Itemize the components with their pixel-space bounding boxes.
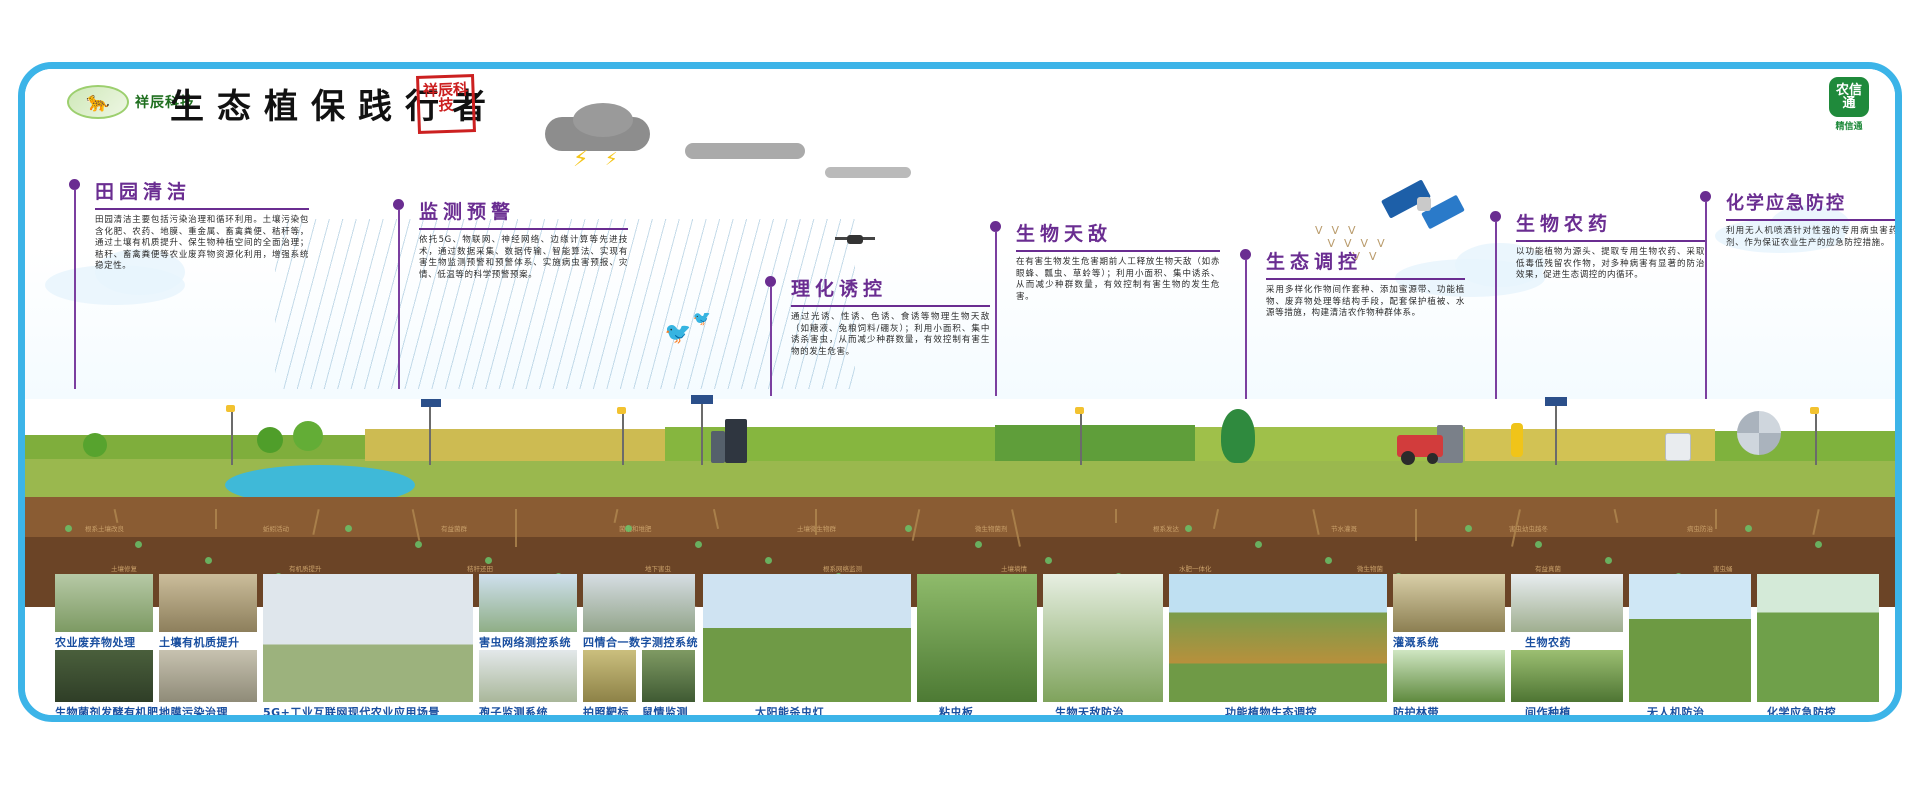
soil-microbe-icon xyxy=(1045,557,1052,564)
soil-label: 菌剂和堆肥 xyxy=(619,523,652,533)
root-icon xyxy=(312,509,319,535)
equipment-cabinet xyxy=(725,419,747,463)
gallery-caption: 粘虫板 xyxy=(939,704,974,720)
gallery-caption: 农业废弃物处理 xyxy=(55,634,136,650)
lightning-icon: ⚡ xyxy=(573,149,588,171)
root-icon xyxy=(1213,509,1219,529)
topic-title: 田园清洁 xyxy=(95,177,309,210)
gallery-caption: 地膜污染治理 xyxy=(159,704,228,720)
photo-gallery: 农信通 农信通 农业废弃物处理 生物菌剂发酵有机肥 土壤有机质提升 地膜污染治理… xyxy=(55,574,1879,709)
drone-icon xyxy=(847,235,863,244)
cloud-grey xyxy=(825,167,911,178)
soil-label: 根系网络监测 xyxy=(823,563,862,573)
tree-icon xyxy=(257,427,283,453)
gallery-caption: 土壤有机质提升 xyxy=(159,634,240,650)
topic-title: 生态调控 xyxy=(1266,247,1465,280)
gallery-caption: 拍照靶标 xyxy=(583,704,629,720)
soil-label: 土壤修复 xyxy=(111,563,137,573)
gallery-photo[interactable] xyxy=(263,574,473,702)
soil-label: 节水灌溉 xyxy=(1331,523,1357,533)
soil-label: 有益菌群 xyxy=(441,523,467,533)
brand-badge-icon: 农信通 xyxy=(1829,77,1869,117)
soil-microbe-icon xyxy=(765,557,772,564)
root-icon xyxy=(912,509,921,541)
gallery-photo[interactable] xyxy=(479,574,577,632)
sensor-pole xyxy=(701,399,703,465)
soil-microbe-icon xyxy=(205,557,212,564)
insect-lamp-icon xyxy=(617,407,626,414)
topic-title: 生物农药 xyxy=(1516,209,1705,242)
soil-label: 根系发达 xyxy=(1153,523,1179,533)
root-icon xyxy=(215,509,217,529)
insect-lamp-icon xyxy=(226,405,235,412)
root-icon xyxy=(1312,509,1319,535)
topic-body: 通过光诱、性诱、色诱、食诱等物理生物天敌（如糖液、兔粮饲料/硼灰）；利用小面积、… xyxy=(791,312,990,358)
soil-microbe-icon xyxy=(1255,541,1262,548)
root-icon xyxy=(614,509,619,523)
gallery-caption: 功能植物生态调控 xyxy=(1225,704,1317,720)
tree-icon xyxy=(83,433,107,457)
soil-label: 病虫防治 xyxy=(1687,523,1713,533)
gallery-photo[interactable] xyxy=(159,574,257,632)
topic-body: 在有害生物发生危害期前人工释放生物天敌（如赤眼蜂、瓢虫、草蛉等）；利用小面积、集… xyxy=(1016,257,1220,303)
gallery-caption: 鼠情监测 xyxy=(642,704,688,720)
soil-microbe-icon xyxy=(485,557,492,564)
soil-microbe-icon xyxy=(1325,557,1332,564)
topic-stem xyxy=(1245,259,1247,399)
root-icon xyxy=(815,509,817,535)
root-icon xyxy=(1812,509,1819,535)
gallery-caption: 生物菌剂发酵有机肥 xyxy=(55,704,159,720)
root-icon xyxy=(114,509,119,523)
soil-microbe-icon xyxy=(975,541,982,548)
gallery-photo[interactable] xyxy=(1393,574,1505,632)
topic-stem xyxy=(74,189,76,389)
insect-lamp-icon xyxy=(1810,407,1819,414)
gallery-photo[interactable] xyxy=(917,574,1037,702)
soil-microbe-icon xyxy=(65,525,72,532)
soil-label: 害虫蛹 xyxy=(1713,563,1733,573)
gallery-photo[interactable] xyxy=(583,650,636,702)
poster-frame: ⚡ ⚡ 🐦 🐦 ᐯᐯᐯ ᐯᐯᐯᐯ ᐯᐯ xyxy=(18,62,1902,722)
gallery-photo[interactable] xyxy=(55,574,153,632)
gallery-photo[interactable] xyxy=(1043,574,1163,702)
gallery-photo[interactable] xyxy=(1511,650,1623,702)
soil-label: 秸秆还田 xyxy=(467,563,493,573)
soil-microbe-icon xyxy=(905,525,912,532)
gallery-caption: 四情合一数字测控系统 xyxy=(583,634,698,650)
root-icon xyxy=(1715,509,1717,529)
sensor-pole xyxy=(429,403,431,465)
satellite-icon xyxy=(1417,197,1431,211)
gallery-photo[interactable] xyxy=(159,650,257,702)
soil-microbe-icon xyxy=(1535,541,1542,548)
soil-microbe-icon xyxy=(135,541,142,548)
secondary-brand: 农信通 精信通 xyxy=(1829,77,1869,132)
gallery-caption: 生物农药 xyxy=(1525,634,1571,650)
topic-title: 化学应急防控 xyxy=(1726,189,1898,221)
brand-badge-sub: 精信通 xyxy=(1829,119,1869,132)
poster-frame-inner: ⚡ ⚡ 🐦 🐦 ᐯᐯᐯ ᐯᐯᐯᐯ ᐯᐯ xyxy=(25,69,1895,715)
root-icon xyxy=(1614,509,1619,523)
gallery-caption: 害虫网络测控系统 xyxy=(479,634,571,650)
insect-lamp-pole xyxy=(231,411,233,465)
tree-icon xyxy=(1221,409,1255,463)
insect-lamp-pole xyxy=(622,413,624,465)
root-icon xyxy=(515,509,517,547)
gallery-photo[interactable] xyxy=(1629,574,1751,702)
solar-panel-icon xyxy=(421,399,441,407)
root-icon xyxy=(713,509,719,529)
insect-lamp-pole xyxy=(1815,413,1817,465)
crop-row xyxy=(365,429,665,461)
gallery-photo[interactable] xyxy=(583,574,695,632)
topic-body: 采用多样化作物间作套种、添加蜜源带、功能植物、废弃物处理等结构手段，配套保护植被… xyxy=(1266,285,1465,320)
solar-panel-icon xyxy=(1545,397,1567,406)
poster-header: 🐆 祥辰科技 生态植保践行者 祥辰科技 农信通 精信通 xyxy=(25,69,1895,147)
topic-stem xyxy=(398,209,400,389)
topic-title: 理化诱控 xyxy=(791,274,990,307)
gallery-photo[interactable] xyxy=(703,574,911,702)
soil-label: 有机质提升 xyxy=(289,563,322,573)
insect-lamp-pole xyxy=(1080,413,1082,465)
topic-stem xyxy=(1705,201,1707,399)
butterfly-leaf-logo-icon: 🐆 xyxy=(67,85,129,119)
red-seal-stamp: 祥辰科技 xyxy=(416,74,476,134)
topic-stem xyxy=(770,286,772,396)
gallery-caption: 生物天敌防治 xyxy=(1055,704,1124,720)
tree-icon xyxy=(293,421,323,451)
tractor-wheel-icon xyxy=(1401,451,1415,465)
insect-lamp-icon xyxy=(1075,407,1084,414)
sensor-pole xyxy=(1555,401,1557,465)
topic-stem xyxy=(995,231,997,396)
root-icon xyxy=(1011,509,1021,547)
soil-label: 土壤墒情 xyxy=(1001,563,1027,573)
butterfly-icon: 🐆 xyxy=(86,93,110,112)
poster-root: ⚡ ⚡ 🐦 🐦 ᐯᐯᐯ ᐯᐯᐯᐯ ᐯᐯ xyxy=(0,0,1920,800)
tractor-wheel-icon xyxy=(1427,453,1438,464)
soil-label: 微生物菌剂 xyxy=(975,523,1008,533)
topic-body: 以功能植物为源头、提取专用生物农药、采取低毒低残留农作物，对多种病害有显著的防治… xyxy=(1516,247,1705,282)
soil-label: 水肥一体化 xyxy=(1179,563,1212,573)
soil-microbe-icon xyxy=(1185,525,1192,532)
gallery-caption: 化学应急防控 xyxy=(1767,704,1836,720)
root-icon xyxy=(412,509,421,541)
topic-title: 生物天敌 xyxy=(1016,219,1220,252)
gallery-caption: 孢子监测系统 xyxy=(479,704,548,720)
gallery-photo[interactable] xyxy=(55,650,153,702)
soil-microbe-icon xyxy=(415,541,422,548)
equipment-cabinet xyxy=(711,431,725,463)
soil-label: 有益真菌 xyxy=(1535,563,1561,573)
soil-microbe-icon xyxy=(625,525,632,532)
gallery-photo[interactable] xyxy=(1511,574,1623,632)
soil-microbe-icon xyxy=(1605,557,1612,564)
radar-dish-icon xyxy=(1737,411,1781,455)
farmer-icon xyxy=(1511,423,1523,457)
soil-label: 地下害虫 xyxy=(645,563,671,573)
soil-label: 蚯蚓活动 xyxy=(263,523,289,533)
topic-title: 监测预警 xyxy=(419,197,628,230)
gallery-photo[interactable] xyxy=(1757,574,1879,702)
root-icon xyxy=(1115,509,1117,523)
gallery-photo[interactable] xyxy=(1393,650,1505,702)
topic-body: 依托5G、物联网、神经网络、边缘计算等先进技术，通过数据采集、数据传输、智能算法… xyxy=(419,235,628,281)
gallery-photo[interactable] xyxy=(642,650,695,702)
gallery-caption: 太阳能杀虫灯 xyxy=(755,704,824,720)
topic-stem xyxy=(1495,221,1497,399)
gallery-caption: 5G+工业互联网现代农业应用场景 xyxy=(263,704,440,720)
soil-microbe-icon xyxy=(1745,525,1752,532)
soil-microbe-icon xyxy=(345,525,352,532)
field-strip xyxy=(25,399,1895,509)
soil-microbe-icon xyxy=(1465,525,1472,532)
topic-body: 田园清洁主要包括污染治理和循环利用。土壤污染包含化肥、农药、地膜、重金属、畜禽粪… xyxy=(95,215,309,273)
solar-panel-icon xyxy=(691,395,713,404)
gallery-caption: 灌溉系统 xyxy=(1393,634,1439,650)
soil-label: 根系土壤改良 xyxy=(85,523,124,533)
robot-icon xyxy=(1665,433,1691,461)
soil-label: 微生物菌 xyxy=(1357,563,1383,573)
soil-microbe-icon xyxy=(1815,541,1822,548)
gallery-caption: 间作种植 xyxy=(1525,704,1571,720)
crop-row xyxy=(995,425,1195,461)
gallery-caption: 防护林带 xyxy=(1393,704,1439,720)
root-icon xyxy=(1415,509,1417,541)
lightning-icon: ⚡ xyxy=(605,151,618,169)
gallery-photo[interactable] xyxy=(479,650,577,702)
gallery-photo[interactable] xyxy=(1169,574,1387,702)
gallery-caption: 无人机防治 xyxy=(1647,704,1705,720)
topic-body: 利用无人机喷洒针对性强的专用病虫害药剂、作为保证农业生产的应急防控措施。 xyxy=(1726,226,1898,249)
soil-microbe-icon xyxy=(695,541,702,548)
